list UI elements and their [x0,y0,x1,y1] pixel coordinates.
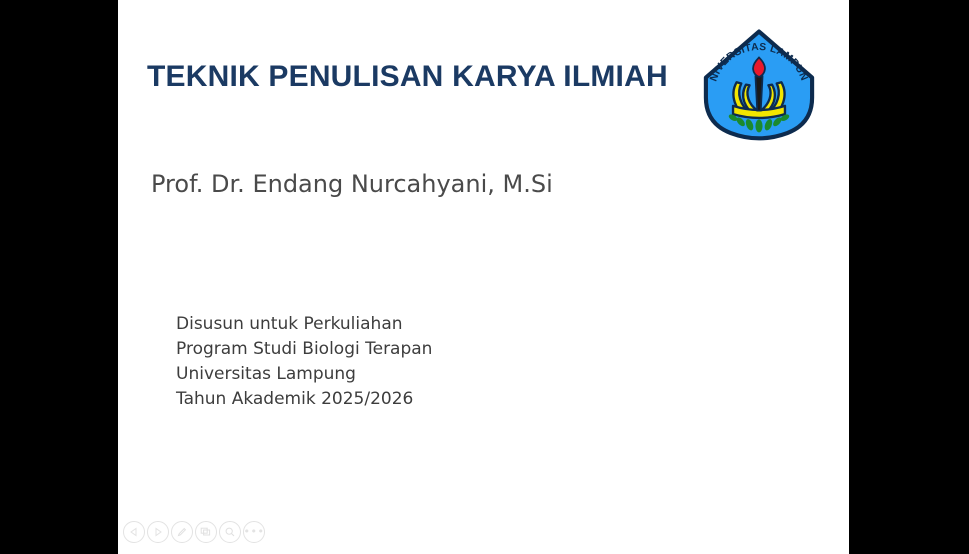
next-slide-button[interactable] [147,521,169,543]
triangle-left-icon [129,527,139,537]
presentation-slide[interactable]: TEKNIK PENULISAN KARYA ILMIAH Prof. Dr. … [118,0,849,554]
ellipsis-icon: ••• [244,528,265,536]
slideshow-toolbar[interactable]: ••• [123,521,265,543]
slideshow-viewer: TEKNIK PENULISAN KARYA ILMIAH Prof. Dr. … [0,0,969,554]
all-slides-button[interactable] [195,521,217,543]
subtitle-block: Disusun untuk Perkuliahan Program Studi … [176,312,432,412]
more-options-button[interactable]: ••• [243,521,265,543]
triangle-right-icon [153,527,163,537]
letterbox-left [0,0,118,554]
magnifier-icon [224,526,236,538]
author-name: Prof. Dr. Endang Nurcahyani, M.Si [151,170,553,198]
subtitle-line-3: Universitas Lampung [176,362,432,387]
pen-tool-button[interactable] [171,521,193,543]
zoom-button[interactable] [219,521,241,543]
pen-icon [176,526,188,538]
subtitle-line-1: Disusun untuk Perkuliahan [176,312,432,337]
letterbox-right [849,0,969,554]
grid-slides-icon [200,526,212,538]
previous-slide-button[interactable] [123,521,145,543]
page-title: TEKNIK PENULISAN KARYA ILMIAH [147,60,707,94]
subtitle-line-4: Tahun Akademik 2025/2026 [176,387,432,412]
universitas-lampung-logo-icon: UNIVERSITAS LAMPUNG [700,28,818,146]
subtitle-line-2: Program Studi Biologi Terapan [176,337,432,362]
